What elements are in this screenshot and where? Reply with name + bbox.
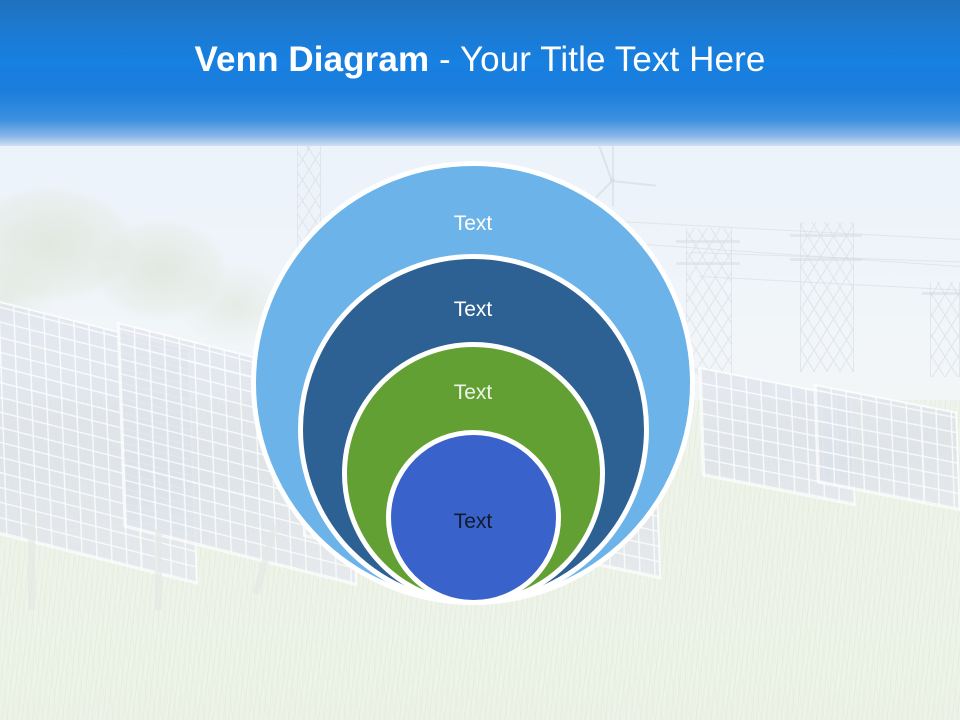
ring-second-label: Text	[303, 297, 644, 323]
ring-inner[interactable]: Text	[386, 430, 561, 605]
ring-third-label: Text	[347, 380, 600, 406]
ring-inner-label: Text	[391, 509, 556, 535]
ring-outer-label: Text	[256, 211, 690, 237]
slide: Venn Diagram - Your Title Text Here Text…	[0, 0, 960, 720]
venn-diagram: TextTextTextText	[0, 0, 960, 720]
